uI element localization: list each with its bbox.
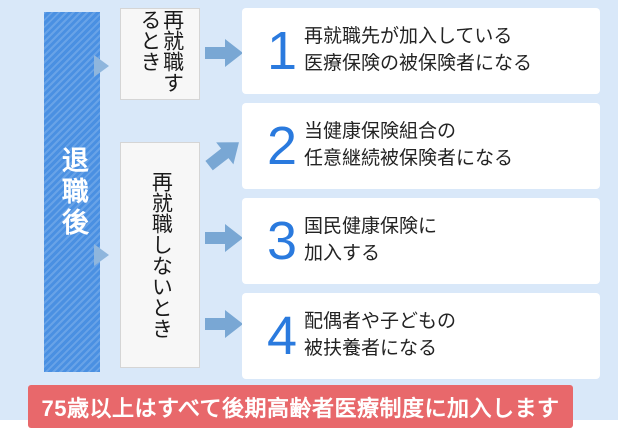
block-arrow-icon-to-option-4 (205, 309, 243, 339)
option-text-1: 再就職先が加入している 医療保険の被保険者になる (304, 24, 532, 78)
triangle-arrow-icon-to-branch-1 (94, 55, 109, 77)
stage-bar-retirement: 退職後 (44, 12, 100, 372)
triangle-arrow-icon-to-branch-2 (94, 244, 109, 266)
option-card-2: 2 当健康保険組合の 任意継続被保険者になる (242, 103, 600, 189)
notice-banner: 75歳以上はすべて後期高齢者医療制度に加入します (28, 385, 573, 428)
diagram-canvas: 退職後 再就職するとき 再就職しないとき 1 再就職先が加入している 医療保険の… (0, 0, 640, 434)
option-number-4: 4 (260, 309, 304, 363)
option-text-3: 国民健康保険に 加入する (304, 214, 437, 268)
option-number-3: 3 (260, 214, 304, 268)
option-card-4: 4 配偶者や子どもの 被扶養者になる (242, 293, 600, 379)
notice-banner-text: 75歳以上はすべて後期高齢者医療制度に加入します (41, 391, 559, 423)
branch-box-not-reemployed: 再就職しないとき (120, 142, 200, 368)
option-text-4: 配偶者や子どもの 被扶養者になる (304, 309, 456, 363)
option-card-1: 1 再就職先が加入している 医療保険の被保険者になる (242, 8, 600, 94)
option-card-3: 3 国民健康保険に 加入する (242, 198, 600, 284)
block-arrow-icon-to-option-1 (205, 38, 243, 68)
option-number-1: 1 (260, 24, 304, 78)
block-arrow-icon-to-option-3 (205, 223, 243, 253)
branch-label-reemployed: 再就職するとき (137, 9, 182, 99)
option-text-2: 当健康保険組合の 任意継続被保険者になる (304, 119, 513, 173)
branch-box-reemployed: 再就職するとき (120, 8, 200, 100)
option-number-2: 2 (260, 119, 304, 173)
stage-bar-label: 退職後 (57, 146, 87, 239)
branch-label-not-reemployed: 再就職しないとき (149, 171, 172, 339)
